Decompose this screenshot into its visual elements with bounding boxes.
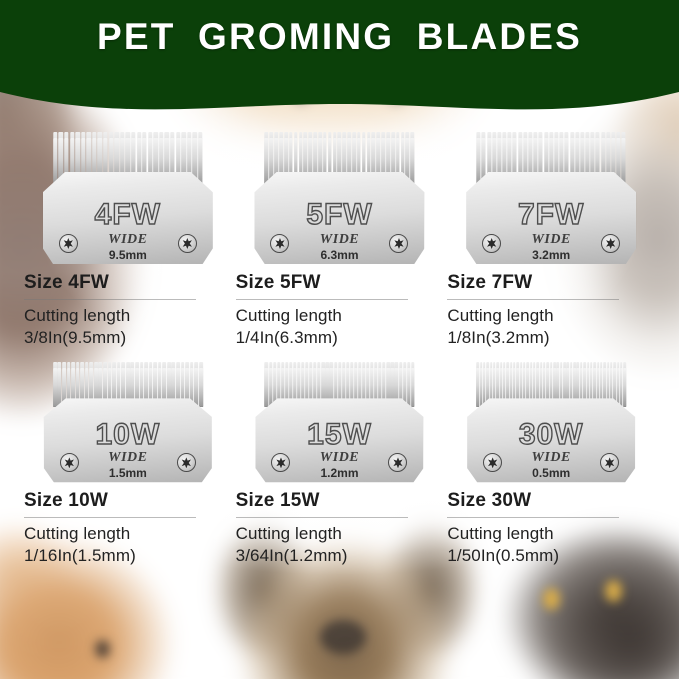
blade-tooth — [476, 368, 478, 406]
blade-tooth — [407, 368, 410, 406]
blade-tooth — [265, 368, 268, 406]
blade-screw-right-icon — [178, 234, 197, 253]
blade-10w: 10W WIDE 1.5mm — [44, 362, 212, 482]
caption-size-title: Size 30W — [447, 490, 657, 512]
blade-30w: 30W WIDE 0.5mm — [467, 362, 635, 482]
blade-size-engraving: 30W — [467, 418, 635, 452]
product-cell-10w[interactable]: 10W WIDE 1.5mm Size 10W Cutting length 1… — [22, 362, 234, 566]
blade-tooth — [269, 368, 272, 406]
caption-size-title: Size 5FW — [236, 272, 446, 294]
cat-eye-right — [605, 580, 622, 602]
blade-15w: 15W WIDE 1.2mm — [255, 362, 423, 482]
blade-body-5fw: 5FW WIDE 6.3mm — [254, 172, 424, 264]
caption-30w: Size 30W Cutting length 1/50In(0.5mm) — [445, 490, 657, 566]
caption-4fw: Size 4FW Cutting length 3/8In(9.5mm) — [22, 272, 234, 348]
caption-line-2: 1/4In(6.3mm) — [236, 327, 446, 349]
blade-5fw: 5FW WIDE 6.3mm — [254, 132, 424, 264]
caption-line-1: Cutting length — [236, 305, 446, 327]
blade-tooth — [199, 368, 203, 406]
product-cell-4fw[interactable]: 4FW WIDE 9.5mm Size 4FW Cutting length 3… — [22, 132, 234, 348]
cat-eye-left — [543, 588, 560, 610]
caption-size-title: Size 7FW — [447, 272, 657, 294]
blade-screw-left-icon — [59, 234, 78, 253]
caption-line-1: Cutting length — [236, 523, 446, 545]
blade-tooth — [53, 138, 57, 184]
caption-10w: Size 10W Cutting length 1/16In(1.5mm) — [22, 490, 234, 566]
caption-15w: Size 15W Cutting length 3/64In(1.2mm) — [234, 490, 446, 566]
blade-image-wrap-10w: 10W WIDE 1.5mm — [22, 362, 234, 482]
product-grid: 4FW WIDE 9.5mm Size 4FW Cutting length 3… — [0, 132, 679, 567]
blade-size-engraving: 10W — [44, 418, 212, 452]
blade-size-engraving: 7FW — [466, 198, 636, 232]
blade-tooth — [194, 368, 198, 406]
caption-line-2: 1/50In(0.5mm) — [447, 545, 657, 567]
blade-4fw: 4FW WIDE 9.5mm — [43, 132, 213, 264]
puppy-eye — [95, 640, 110, 658]
blade-body-7fw: 7FW WIDE 3.2mm — [466, 172, 636, 264]
blade-image-wrap-7fw: 7FW WIDE 3.2mm — [445, 132, 657, 264]
blade-tooth — [617, 368, 619, 406]
caption-line-2: 3/8In(9.5mm) — [24, 327, 234, 349]
blade-7fw: 7FW WIDE 3.2mm — [466, 132, 636, 264]
blade-tooth — [58, 368, 62, 406]
blade-tooth — [477, 138, 481, 184]
blade-tooth — [620, 368, 622, 406]
blade-tooth — [623, 368, 625, 406]
blade-size-engraving: 15W — [255, 418, 423, 452]
blade-image-wrap-5fw: 5FW WIDE 6.3mm — [234, 132, 446, 264]
caption-divider — [24, 517, 196, 518]
caption-line-2: 3/64In(1.2mm) — [236, 545, 446, 567]
caption-divider — [236, 299, 408, 300]
product-cell-5fw[interactable]: 5FW WIDE 6.3mm Size 5FW Cutting length 1… — [234, 132, 446, 348]
caption-line-1: Cutting length — [447, 305, 657, 327]
blade-body-15w: 15W WIDE 1.2mm — [255, 398, 423, 482]
blade-body-4fw: 4FW WIDE 9.5mm — [43, 172, 213, 264]
caption-7fw: Size 7FW Cutting length 1/8In(3.2mm) — [445, 272, 657, 348]
blade-image-wrap-4fw: 4FW WIDE 9.5mm — [22, 132, 234, 264]
caption-size-title: Size 15W — [236, 490, 446, 512]
product-cell-15w[interactable]: 15W WIDE 1.2mm Size 15W Cutting length 3… — [234, 362, 446, 566]
caption-line-2: 1/8In(3.2mm) — [447, 327, 657, 349]
caption-5fw: Size 5FW Cutting length 1/4In(6.3mm) — [234, 272, 446, 348]
blade-image-wrap-30w: 30W WIDE 0.5mm — [445, 362, 657, 482]
blade-tooth — [483, 368, 485, 406]
product-cell-7fw[interactable]: 7FW WIDE 3.2mm Size 7FW Cutting length 1… — [445, 132, 657, 348]
caption-line-1: Cutting length — [447, 523, 657, 545]
caption-line-1: Cutting length — [24, 523, 234, 545]
caption-line-1: Cutting length — [24, 305, 234, 327]
blade-tooth — [53, 368, 57, 406]
blade-tooth — [411, 138, 415, 184]
blade-body-10w: 10W WIDE 1.5mm — [44, 398, 212, 482]
blade-tooth — [198, 138, 202, 184]
blade-image-wrap-15w: 15W WIDE 1.2mm — [234, 362, 446, 482]
blade-tooth — [622, 138, 626, 184]
caption-divider — [24, 299, 196, 300]
product-cell-30w[interactable]: 30W WIDE 0.5mm Size 30W Cutting length 1… — [445, 362, 657, 566]
header-banner: PET GROMING BLADES — [0, 0, 679, 130]
caption-size-title: Size 4FW — [24, 272, 234, 294]
infographic-page: PET GROMING BLADES 4FW WIDE 9.5mm — [0, 0, 679, 679]
blade-tooth — [480, 368, 482, 406]
caption-divider — [447, 517, 619, 518]
blade-size-engraving: 5FW — [254, 198, 424, 232]
shepherd-nose — [320, 620, 366, 654]
caption-divider — [236, 517, 408, 518]
page-title: PET GROMING BLADES — [0, 16, 679, 58]
caption-size-title: Size 10W — [24, 490, 234, 512]
caption-divider — [447, 299, 619, 300]
blade-tooth — [265, 138, 269, 184]
caption-line-2: 1/16In(1.5mm) — [24, 545, 234, 567]
blade-body-30w: 30W WIDE 0.5mm — [467, 398, 635, 482]
blade-size-engraving: 4FW — [43, 198, 213, 232]
blade-tooth — [411, 368, 414, 406]
